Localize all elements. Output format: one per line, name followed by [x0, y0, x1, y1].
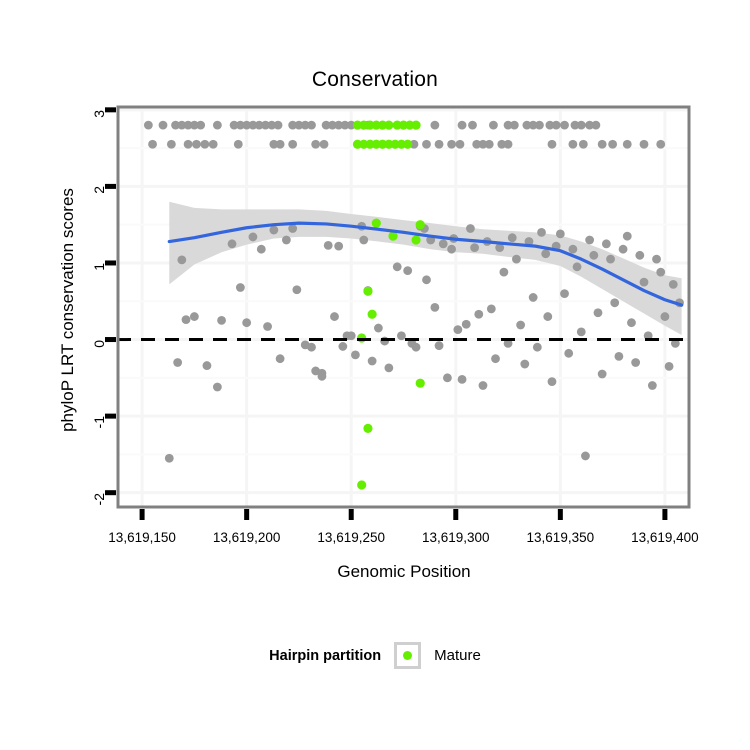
data-point-other	[608, 140, 617, 149]
data-point-other	[184, 140, 193, 149]
data-point-other	[311, 140, 320, 149]
data-point-other	[606, 255, 615, 264]
data-point-mature	[411, 235, 420, 244]
data-point-other	[144, 121, 153, 130]
data-point-other	[541, 249, 550, 258]
data-point-other	[338, 342, 347, 351]
legend: Hairpin partition Mature	[0, 642, 750, 669]
data-point-other	[648, 381, 657, 390]
data-point-other	[274, 121, 283, 130]
data-point-other	[598, 370, 607, 379]
data-point-mature	[372, 219, 381, 228]
data-point-other	[623, 232, 632, 241]
data-point-other	[234, 140, 243, 149]
data-point-other	[466, 224, 475, 233]
data-point-other	[148, 140, 157, 149]
data-point-other	[430, 121, 439, 130]
data-point-other	[447, 140, 456, 149]
data-point-other	[330, 312, 339, 321]
data-point-other	[479, 381, 488, 390]
data-point-other	[393, 262, 402, 271]
data-point-other	[447, 245, 456, 254]
data-point-other	[512, 255, 521, 264]
data-point-other	[282, 236, 291, 245]
data-point-other	[661, 312, 670, 321]
data-point-other	[236, 283, 245, 292]
data-point-other	[656, 140, 665, 149]
data-point-mature	[416, 220, 425, 229]
data-point-other	[623, 140, 632, 149]
data-point-other	[439, 239, 448, 248]
data-point-other	[196, 121, 205, 130]
plot-canvas	[0, 0, 750, 750]
data-point-other	[591, 121, 600, 130]
panel-background	[117, 106, 690, 508]
data-point-mature	[357, 333, 366, 342]
data-point-other	[422, 275, 431, 284]
data-point-other	[548, 377, 557, 386]
data-point-other	[190, 312, 199, 321]
data-point-other	[468, 121, 477, 130]
data-point-other	[491, 354, 500, 363]
data-point-other	[213, 121, 222, 130]
conservation-chart: Conservation phyloP LRT conservation sco…	[0, 0, 750, 750]
data-point-other	[610, 298, 619, 307]
data-point-other	[510, 121, 519, 130]
data-point-other	[412, 343, 421, 352]
data-point-other	[568, 140, 577, 149]
data-point-other	[577, 327, 586, 336]
data-point-other	[422, 140, 431, 149]
data-point-other	[499, 268, 508, 277]
data-point-other	[489, 121, 498, 130]
data-point-other	[585, 236, 594, 245]
data-point-other	[598, 140, 607, 149]
data-point-mature	[363, 287, 372, 296]
data-point-other	[324, 241, 333, 250]
data-point-other	[640, 278, 649, 287]
data-point-other	[435, 341, 444, 350]
data-point-other	[443, 373, 452, 382]
data-point-other	[458, 375, 467, 384]
data-point-mature	[403, 140, 412, 149]
data-point-other	[165, 454, 174, 463]
data-point-other	[292, 285, 301, 294]
data-point-other	[257, 245, 266, 254]
data-point-other	[627, 318, 636, 327]
data-point-other	[529, 293, 538, 302]
data-point-other	[589, 251, 598, 260]
data-point-other	[516, 321, 525, 330]
data-point-other	[614, 352, 623, 361]
data-point-mature	[384, 121, 393, 130]
data-point-other	[458, 121, 467, 130]
data-point-other	[652, 255, 661, 264]
data-point-other	[182, 315, 191, 324]
data-point-other	[548, 140, 557, 149]
data-point-other	[577, 121, 586, 130]
data-point-other	[520, 360, 529, 369]
data-point-other	[508, 233, 517, 242]
data-point-other	[568, 245, 577, 254]
data-point-other	[307, 121, 316, 130]
data-point-other	[474, 310, 483, 319]
data-point-other	[635, 251, 644, 260]
legend-title: Hairpin partition	[269, 648, 381, 664]
data-point-other	[487, 305, 496, 314]
legend-key-mature[interactable]	[394, 642, 421, 669]
data-point-other	[347, 331, 356, 340]
data-point-other	[504, 140, 513, 149]
data-point-other	[656, 268, 665, 277]
data-point-other	[192, 140, 201, 149]
data-point-other	[359, 236, 368, 245]
data-point-other	[209, 140, 218, 149]
data-point-other	[669, 280, 678, 289]
data-point-mature	[357, 480, 366, 489]
data-point-other	[485, 140, 494, 149]
data-point-other	[602, 239, 611, 248]
legend-label-mature: Mature	[434, 647, 481, 664]
data-point-other	[203, 361, 212, 370]
data-point-other	[594, 308, 603, 317]
data-point-other	[213, 383, 222, 392]
data-point-mature	[416, 379, 425, 388]
data-point-other	[573, 262, 582, 271]
data-point-other	[167, 140, 176, 149]
data-point-other	[217, 316, 226, 325]
data-point-other	[640, 140, 649, 149]
data-point-other	[537, 228, 546, 237]
data-point-other	[334, 242, 343, 251]
data-point-other	[430, 303, 439, 312]
data-point-other	[631, 358, 640, 367]
data-point-other	[263, 322, 272, 331]
data-point-other	[533, 343, 542, 352]
data-point-other	[453, 325, 462, 334]
data-point-other	[435, 140, 444, 149]
data-point-other	[560, 121, 569, 130]
data-point-other	[560, 289, 569, 298]
data-point-other	[307, 343, 316, 352]
data-point-mature	[411, 121, 420, 130]
data-point-other	[552, 121, 561, 130]
data-point-other	[288, 140, 297, 149]
data-point-mature	[363, 424, 372, 433]
data-point-other	[368, 357, 377, 366]
data-point-other	[351, 350, 360, 359]
data-point-other	[397, 331, 406, 340]
data-point-mature	[368, 310, 377, 319]
data-point-other	[173, 358, 182, 367]
data-point-other	[288, 224, 297, 233]
data-point-other	[535, 121, 544, 130]
data-point-other	[384, 363, 393, 372]
data-point-other	[543, 312, 552, 321]
data-point-other	[242, 318, 251, 327]
data-point-other	[619, 245, 628, 254]
data-point-other	[556, 229, 565, 238]
data-point-other	[470, 243, 479, 252]
data-point-other	[380, 337, 389, 346]
data-point-other	[403, 266, 412, 275]
data-point-other	[177, 256, 186, 265]
data-point-other	[228, 239, 237, 248]
data-point-other	[276, 140, 285, 149]
data-point-other	[159, 121, 168, 130]
data-point-other	[374, 324, 383, 333]
data-point-other	[579, 140, 588, 149]
data-point-other	[462, 320, 471, 329]
data-point-other	[276, 354, 285, 363]
data-point-other	[200, 140, 209, 149]
data-point-other	[318, 372, 327, 381]
data-point-other	[581, 452, 590, 461]
data-point-other	[269, 226, 278, 235]
data-point-other	[320, 140, 329, 149]
legend-marker-icon	[403, 651, 412, 660]
data-point-other	[665, 362, 674, 371]
data-point-other	[456, 140, 465, 149]
data-point-other	[249, 233, 258, 242]
data-point-other	[564, 349, 573, 358]
